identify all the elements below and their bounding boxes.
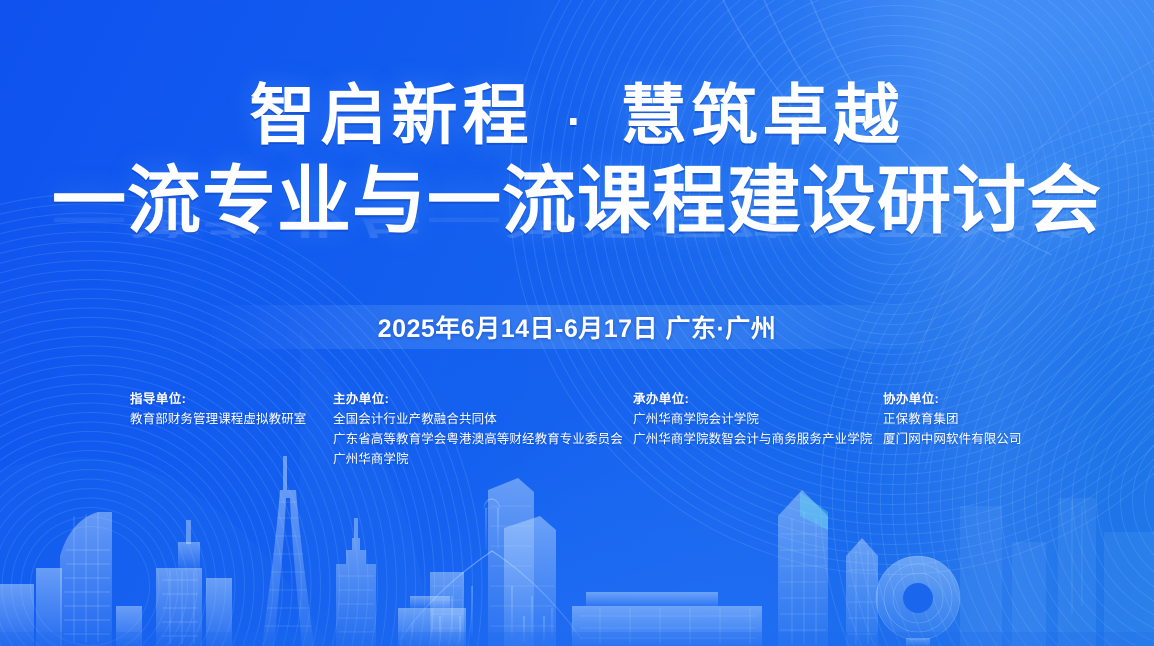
arc-ring	[0, 441, 236, 646]
arc-ring	[0, 298, 378, 646]
organizer-column: 指导单位:教育部财务管理课程虚拟教研室	[130, 388, 333, 430]
title-block: 智启新程 · 慧筑卓越 一流专业与一流课程建设研讨会	[0, 82, 1154, 238]
building-cluster-west	[60, 512, 142, 646]
arc-ring	[1084, 370, 1154, 630]
arc-ring	[0, 327, 350, 646]
arc-ring	[1072, 358, 1154, 642]
organizer-column: 主办单位:全国会计行业产教融合共同体广东省高等教育学会粤港澳高等财经教育专业委员…	[333, 388, 633, 469]
organizer-item: 厦门网中网软件有限公司	[883, 430, 1022, 450]
podium-block	[572, 592, 762, 646]
title-line-1-left: 智启新程	[249, 78, 533, 152]
organizer-heading: 主办单位:	[333, 388, 633, 407]
arc-ring	[1108, 394, 1154, 606]
title-line-2: 一流专业与一流课程建设研讨会	[0, 164, 1154, 238]
arc-ring	[0, 488, 188, 646]
organizer-heading: 指导单位:	[130, 388, 333, 407]
title-reflection: 一流专业与一流课程建设研讨会	[0, 238, 1154, 312]
arc-ring	[1120, 406, 1154, 594]
date-location-text: 2025年6月14日-6月17日 广东·广州	[0, 309, 1154, 345]
arc-ring	[1048, 334, 1154, 646]
arc-ring	[0, 460, 217, 646]
arc-ring	[30, 526, 150, 646]
arc-ring	[1060, 346, 1154, 646]
organizer-item: 正保教育集团	[883, 410, 1022, 430]
arc-ring	[0, 336, 340, 646]
guangzhou-skyline-silhouette	[0, 446, 1154, 646]
arc-ring	[1144, 430, 1154, 570]
organizer-item: 广东省高等教育学会粤港澳高等财经教育专业委员会	[333, 430, 633, 450]
arc-ring	[1096, 382, 1154, 618]
capped-tower	[778, 490, 828, 646]
organizer-columns: 指导单位:教育部财务管理课程虚拟教研室主办单位:全国会计行业产教融合共同体广东省…	[130, 388, 1030, 469]
arc-ring	[21, 517, 160, 646]
organizer-item: 全国会计行业产教融合共同体	[333, 410, 633, 430]
twin-angular-towers	[488, 478, 556, 646]
arc-ring	[0, 450, 226, 646]
organizer-column: 协办单位:正保教育集团厦门网中网软件有限公司	[883, 388, 1022, 450]
arc-ring	[1036, 322, 1154, 646]
stepped-tower	[336, 518, 376, 646]
organizer-heading: 承办单位:	[633, 388, 883, 407]
building-cluster-left	[0, 568, 62, 646]
organizer-item: 教育部财务管理课程虚拟教研室	[130, 410, 333, 430]
arc-ring	[1024, 310, 1154, 646]
guangzhou-circle	[876, 556, 960, 646]
obelisk-tower	[846, 538, 878, 646]
organizer-item: 广州华商学院数智会计与商务服务产业学院	[633, 430, 883, 450]
arc-ring	[1132, 418, 1154, 582]
arc-ring	[2, 498, 179, 646]
arc-ring	[0, 317, 359, 646]
title-separator-dot: ·	[557, 95, 597, 147]
organizer-heading: 协办单位:	[883, 388, 1022, 407]
arc-ring	[1012, 298, 1154, 646]
title-line-1: 智启新程 · 慧筑卓越	[0, 82, 1154, 148]
organizer-item: 广州华商学院	[333, 450, 633, 470]
title-line-1-right: 慧筑卓越	[621, 78, 905, 152]
arc-ring	[0, 479, 198, 646]
building-cluster-right	[960, 498, 1154, 646]
conference-banner: 一流专业与一流课程建设研讨会 智启新程 · 慧筑卓越 一流专业与一流课程建设研讨…	[0, 0, 1154, 646]
tower-with-mast	[156, 520, 232, 646]
haizhu-bridge	[385, 499, 600, 642]
canton-tower	[262, 456, 314, 646]
arc-ring	[0, 308, 369, 646]
organizer-item: 广州华商学院会计学院	[633, 410, 883, 430]
low-wide-block	[398, 572, 466, 646]
arc-ring	[0, 469, 207, 646]
arc-ring	[11, 507, 169, 646]
organizer-column: 承办单位:广州华商学院会计学院广州华商学院数智会计与商务服务产业学院	[633, 388, 883, 450]
